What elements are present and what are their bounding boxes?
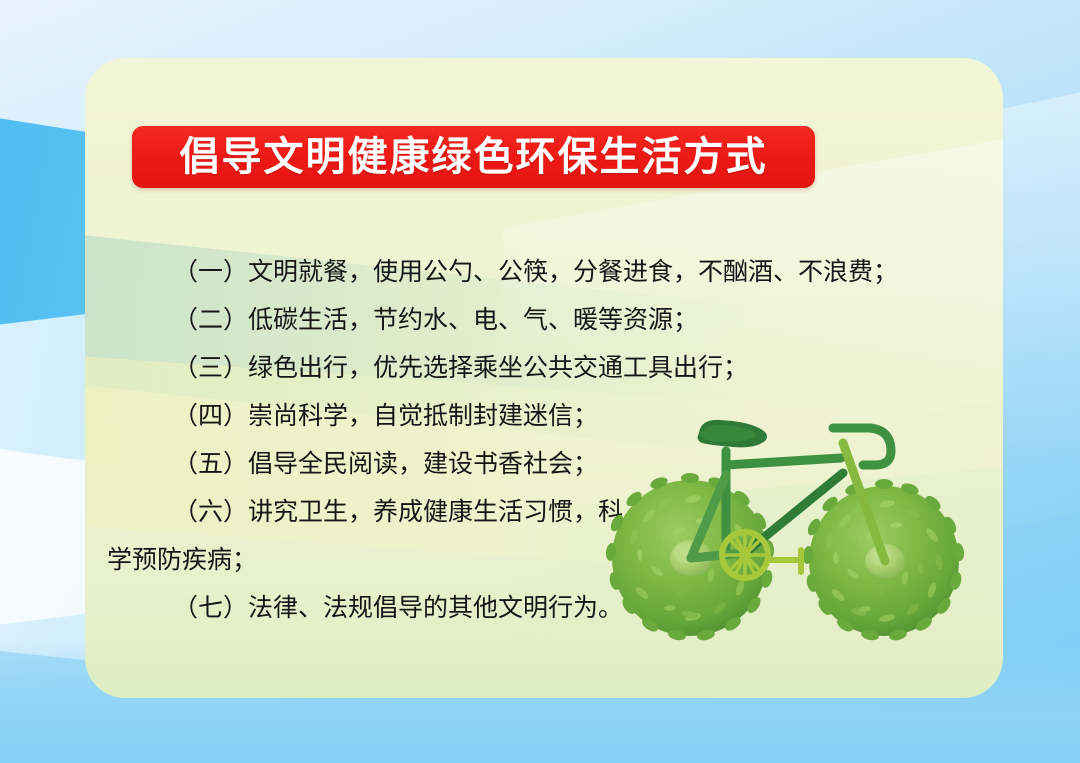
- poster-canvas: 倡导文明健康绿色环保生活方式 （一）文明就餐，使用公勺、公筷，分餐进食，不酗酒、…: [0, 0, 1080, 763]
- page-title: 倡导文明健康绿色环保生活方式: [180, 137, 768, 177]
- green-leaf-bicycle-illustration: [595, 403, 975, 653]
- list-item: （二）低碳生活，节约水、电、气、暖等资源；: [107, 296, 987, 344]
- content-card: 倡导文明健康绿色环保生活方式 （一）文明就餐，使用公勺、公筷，分餐进食，不酗酒、…: [85, 58, 1003, 698]
- list-item: （一）文明就餐，使用公勺、公筷，分餐进食，不酗酒、不浪费；: [107, 248, 987, 296]
- list-item: （三）绿色出行，优先选择乘坐公共交通工具出行；: [107, 344, 987, 392]
- chainring: [722, 532, 768, 578]
- title-banner: 倡导文明健康绿色环保生活方式: [132, 126, 815, 188]
- bicycle-seat: [698, 420, 767, 447]
